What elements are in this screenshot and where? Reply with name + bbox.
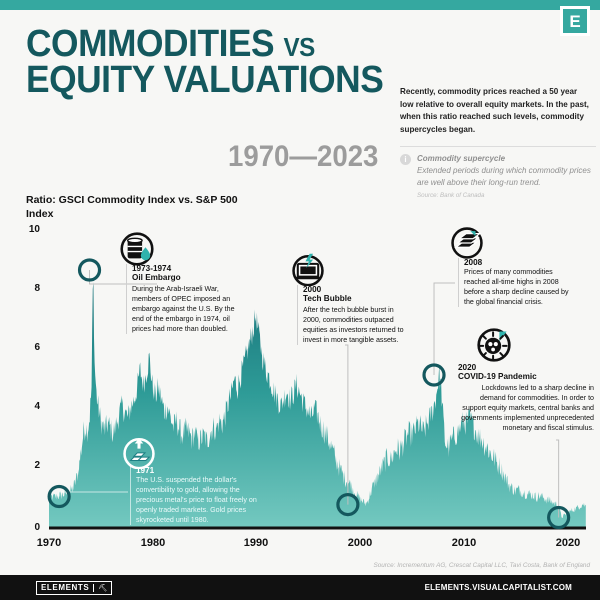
footer-url[interactable]: ELEMENTS.VISUALCAPITALIST.COM (425, 583, 572, 592)
annotation-year: 2008 (464, 258, 578, 267)
laptop-lightning-icon (291, 252, 325, 286)
annotation-year: 1973-1974 (132, 264, 238, 273)
x-tick-2000: 2000 (333, 537, 387, 549)
virus-icon (476, 327, 512, 363)
y-tick-4: 4 (18, 401, 40, 412)
oil-barrel-icon (120, 232, 154, 266)
y-tick-10: 10 (18, 224, 40, 235)
annotation-body: Prices of many commodities reached all-t… (464, 267, 578, 307)
x-tick-1970: 1970 (22, 537, 76, 549)
y-tick-8: 8 (18, 283, 40, 294)
y-tick-2: 2 (18, 460, 40, 471)
annotation-financial-crisis: 2008 Prices of many commodities reached … (458, 258, 578, 307)
annotation-year: 2000 (303, 285, 407, 294)
annotation-body: During the Arab-Israeli War, members of … (132, 284, 238, 334)
annotation-year: 2020 (458, 363, 594, 372)
annotation-oil-embargo: 1973-1974 Oil Embargo During the Arab-Is… (126, 264, 238, 334)
money-stack-icon (450, 226, 484, 260)
pickaxe-icon: ⛏ (93, 584, 107, 592)
annotation-leader-line (345, 345, 348, 505)
annotation-tech-bubble: 2000 Tech Bubble After the tech bubble b… (297, 285, 407, 345)
annotation-title: COVID-19 Pandemic (458, 372, 594, 381)
x-tick-1980: 1980 (126, 537, 180, 549)
y-tick-0: 0 (18, 522, 40, 533)
annotation-leader-line (434, 283, 455, 375)
x-tick-2020: 2020 (541, 537, 595, 549)
annotation-title: Tech Bubble (303, 294, 407, 303)
annotation-gold-standard: 1971 The U.S. suspended the dollar's con… (130, 466, 265, 525)
annotation-title: Oil Embargo (132, 273, 238, 282)
brand-text: ELEMENTS (41, 583, 89, 592)
annotation-body: Lockdowns led to a sharp decline in dema… (458, 383, 594, 433)
x-tick-2010: 2010 (437, 537, 491, 549)
infographic-page: E COMMODITIES VS EQUITY VALUATIONS 1970—… (0, 0, 600, 600)
annotation-body: After the tech bubble burst in 2000, com… (303, 305, 407, 345)
elements-brand[interactable]: ELEMENTS ⛏ (36, 581, 112, 595)
x-tick-1990: 1990 (229, 537, 283, 549)
y-tick-6: 6 (18, 342, 40, 353)
gold-bars-icon (122, 435, 156, 469)
annotation-year: 1971 (136, 466, 265, 475)
chart-source: Source: Incrementum AG, Crescat Capital … (373, 562, 590, 569)
annotation-covid-pandemic: 2020 COVID-19 Pandemic Lockdowns led to … (458, 363, 594, 433)
annotation-body: The U.S. suspended the dollar's converti… (136, 475, 265, 525)
page-footer: ELEMENTS ⛏ ELEMENTS.VISUALCAPITALIST.COM (0, 575, 600, 600)
